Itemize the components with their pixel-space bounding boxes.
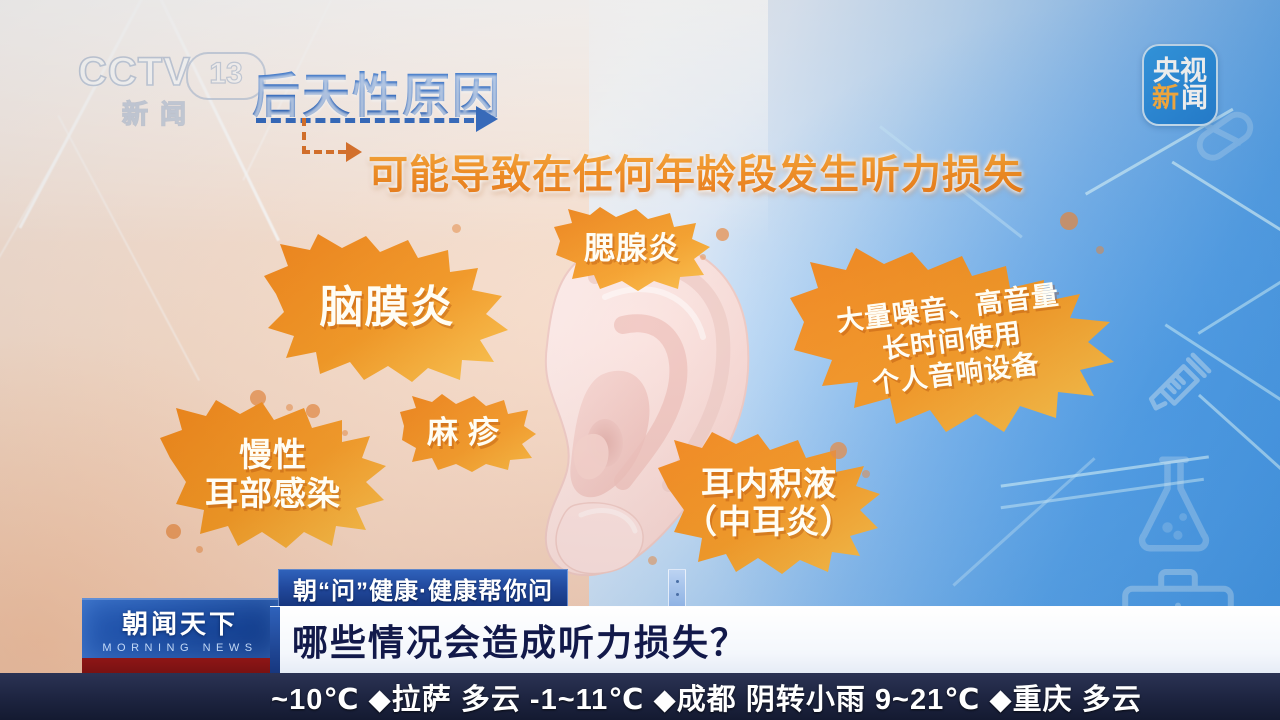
burst-label-line-1: 慢性 xyxy=(205,437,341,473)
deco-dot xyxy=(1060,212,1078,230)
cctv-channel-subtitle: 新闻 xyxy=(122,94,198,131)
arrow-primary-icon xyxy=(476,106,498,132)
burst-label-line-2: （中耳炎） xyxy=(684,504,854,540)
deco-dot xyxy=(306,404,320,418)
deco-dot xyxy=(862,470,870,478)
deco-dot xyxy=(830,442,847,459)
program-name-cn: 朝闻天下 xyxy=(122,604,238,641)
burst-meningitis: 脑膜炎 xyxy=(262,232,512,384)
heading-primary: 后天性原因 xyxy=(252,56,502,126)
dashed-connector-primary xyxy=(256,118,474,123)
badge-char-wen: 闻 xyxy=(1181,85,1208,112)
badge-char-xin: 新 xyxy=(1152,85,1179,112)
program-name-en: MORNING NEWS xyxy=(102,642,257,654)
badge-line-1: 央视 xyxy=(1153,58,1207,85)
broadcast-screenshot: CCTV 13 新闻 央视 新 闻 后天性原因 可能导致在任何年龄段发生听力损失 xyxy=(0,0,1280,720)
burst-measles: 麻疹 xyxy=(398,392,538,474)
burst-chronic-ear-infection: 慢性 耳部感染 xyxy=(158,398,388,550)
weather-ticker-text: 5~10℃ ◆拉萨 多云 -1~11℃ ◆成都 阴转小雨 9~21℃ ◆重庆 多… xyxy=(270,676,1142,718)
heading-secondary: 可能导致在任何年龄段发生听力损失 xyxy=(368,142,1024,200)
burst-label: 腮腺炎 xyxy=(576,232,688,265)
headline-bar: 哪些情况会造成听力损失？ xyxy=(270,606,1280,673)
badge-line-2: 新 闻 xyxy=(1152,85,1208,112)
burst-label: 脑膜炎 xyxy=(312,284,463,332)
ticker-left-block xyxy=(0,673,270,720)
deco-dot xyxy=(342,430,348,436)
deco-dot xyxy=(716,228,729,241)
burst-label-line-1: 耳内积液 xyxy=(684,466,854,502)
arrow-secondary-icon xyxy=(346,142,362,162)
burst-mumps: 腮腺炎 xyxy=(552,205,712,293)
cap-dot xyxy=(676,580,679,583)
lower-third: 朝“问”健康·健康帮你问 朝闻天下 MORNING NEWS 3月2日 08:4… xyxy=(0,555,1280,720)
dashed-connector-vertical xyxy=(302,118,306,154)
burst-loud-noise: 大量噪音、高音量 长时间使用 个人音响设备 xyxy=(788,246,1116,438)
dashed-connector-secondary xyxy=(302,150,346,154)
cctv-channel-logo: CCTV 13 新闻 xyxy=(78,50,268,132)
badge-char-yang: 央视 xyxy=(1153,58,1207,85)
kicker-end-cap xyxy=(668,569,686,607)
burst-label-line-2: 耳部感染 xyxy=(205,476,341,512)
kicker-label: 朝“问”健康·健康帮你问 xyxy=(293,571,553,606)
flask-icon xyxy=(1128,452,1220,556)
burst-label-group: 慢性 耳部感染 xyxy=(197,437,349,511)
headline-accent-bar xyxy=(270,607,280,673)
burst-label-group: 耳内积液 （中耳炎） xyxy=(676,466,862,539)
program-logo: 朝闻天下 MORNING NEWS xyxy=(82,598,278,658)
cap-dot xyxy=(676,593,679,596)
syringe-icon xyxy=(1142,348,1216,422)
deco-dot xyxy=(700,254,706,260)
deco-dot xyxy=(196,546,203,553)
headline-text: 哪些情况会造成听力损失？ xyxy=(292,614,748,666)
deco-dot xyxy=(452,224,461,233)
kicker-badge: 朝“问”健康·健康帮你问 xyxy=(278,569,568,607)
weather-ticker: 5~10℃ ◆拉萨 多云 -1~11℃ ◆成都 阴转小雨 9~21℃ ◆重庆 多… xyxy=(270,673,1280,720)
cctv-news-app-badge: 央视 新 闻 xyxy=(1142,44,1218,126)
burst-label: 麻疹 xyxy=(419,416,517,449)
deco-dot xyxy=(166,524,181,539)
deco-dot xyxy=(1096,246,1104,254)
